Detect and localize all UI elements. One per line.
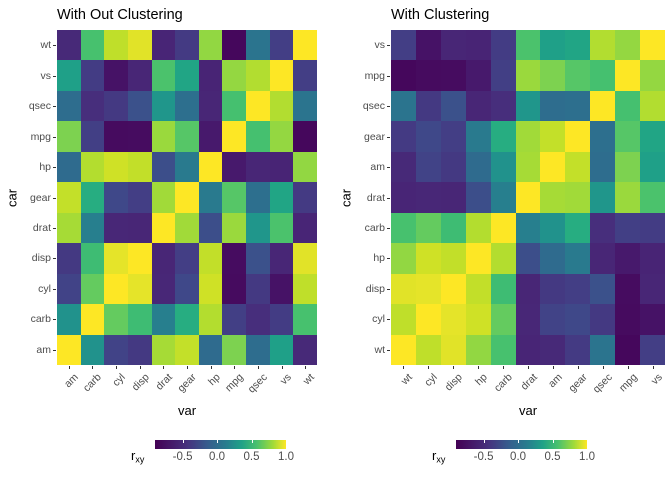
- heatmap-cell[interactable]: [222, 30, 246, 60]
- y-axis-tick-label: cyl: [372, 314, 385, 325]
- heatmap-cell[interactable]: [270, 30, 294, 60]
- heatmap-cell[interactable]: [615, 335, 640, 365]
- x-axis-tick-mark: [163, 366, 164, 369]
- heatmap-cell[interactable]: [175, 182, 199, 212]
- heatmap-cell[interactable]: [540, 121, 565, 151]
- heatmap-cell[interactable]: [270, 60, 294, 90]
- heatmap-cell[interactable]: [590, 182, 615, 212]
- legend-tick-label: 0.5: [244, 451, 260, 463]
- heatmap-cell[interactable]: [293, 213, 317, 243]
- heatmap-cell[interactable]: [540, 335, 565, 365]
- heatmap-cell[interactable]: [615, 91, 640, 121]
- y-axis-tick-label: hp: [373, 253, 385, 264]
- y-axis-tick-label: qsec: [363, 101, 385, 112]
- heatmap-cell[interactable]: [128, 121, 152, 151]
- heatmap-cell[interactable]: [246, 243, 270, 273]
- heatmap-cell[interactable]: [441, 274, 466, 304]
- heatmap-cell[interactable]: [416, 60, 441, 90]
- heatmap-row: [57, 152, 317, 182]
- y-axis-tick-label: mpg: [365, 70, 385, 81]
- heatmap-cell[interactable]: [590, 60, 615, 90]
- y-axis-tick-mark: [387, 167, 390, 168]
- heatmap-cell[interactable]: [516, 30, 541, 60]
- y-axis-tick-mark: [53, 45, 56, 46]
- heatmap-cell[interactable]: [466, 91, 491, 121]
- heatmap-row: [391, 304, 665, 334]
- heatmap-cell[interactable]: [491, 182, 516, 212]
- heatmap-cell[interactable]: [175, 30, 199, 60]
- heatmap-cell[interactable]: [270, 243, 294, 273]
- heatmap-cell[interactable]: [466, 243, 491, 273]
- heatmap-cell[interactable]: [416, 121, 441, 151]
- heatmap-cell[interactable]: [565, 60, 590, 90]
- heatmap-cell[interactable]: [565, 243, 590, 273]
- heatmap-cell[interactable]: [391, 182, 416, 212]
- heatmap-cell[interactable]: [81, 60, 105, 90]
- heatmap-cell[interactable]: [57, 182, 81, 212]
- heatmap-cell[interactable]: [441, 121, 466, 151]
- heatmap-cell[interactable]: [640, 121, 665, 151]
- heatmap-cell[interactable]: [416, 30, 441, 60]
- legend-tick-mark: [286, 440, 287, 443]
- heatmap-cell[interactable]: [270, 91, 294, 121]
- heatmap-cell[interactable]: [128, 91, 152, 121]
- heatmap-cell[interactable]: [516, 60, 541, 90]
- heatmap-cell[interactable]: [246, 304, 270, 334]
- heatmap-cell[interactable]: [246, 121, 270, 151]
- y-axis-tick-mark: [53, 167, 56, 168]
- x-axis-tick-mark: [603, 366, 604, 369]
- heatmap-cell[interactable]: [466, 335, 491, 365]
- heatmap-cell[interactable]: [293, 335, 317, 365]
- heatmap-row: [391, 213, 665, 243]
- y-axis-tick-mark: [53, 258, 56, 259]
- heatmap-cell[interactable]: [391, 91, 416, 121]
- heatmap-cell[interactable]: [491, 243, 516, 273]
- heatmap-cell[interactable]: [246, 152, 270, 182]
- heatmap-cell[interactable]: [246, 213, 270, 243]
- heatmap-cell[interactable]: [391, 60, 416, 90]
- heatmap-cell[interactable]: [57, 274, 81, 304]
- heatmap-cell[interactable]: [199, 30, 223, 60]
- heatmap-cell[interactable]: [57, 335, 81, 365]
- heatmap-cell[interactable]: [152, 304, 176, 334]
- heatmap-cell[interactable]: [222, 274, 246, 304]
- heatmap-row: [57, 60, 317, 90]
- heatmap-cell[interactable]: [441, 60, 466, 90]
- heatmap-cell[interactable]: [565, 182, 590, 212]
- heatmap-cell[interactable]: [466, 213, 491, 243]
- heatmap-cell[interactable]: [615, 213, 640, 243]
- heatmap-cell[interactable]: [152, 243, 176, 273]
- heatmap-cell[interactable]: [246, 274, 270, 304]
- heatmap-cell[interactable]: [104, 274, 128, 304]
- heatmap-cell[interactable]: [516, 304, 541, 334]
- heatmap-cell[interactable]: [416, 152, 441, 182]
- heatmap-cell[interactable]: [516, 274, 541, 304]
- y-axis-tick-mark: [53, 289, 56, 290]
- heatmap-cell[interactable]: [491, 304, 516, 334]
- heatmap-cell[interactable]: [416, 213, 441, 243]
- heatmap-cell[interactable]: [615, 152, 640, 182]
- heatmap-cell[interactable]: [175, 304, 199, 334]
- heatmap-cell[interactable]: [270, 274, 294, 304]
- heatmap-cell[interactable]: [128, 243, 152, 273]
- heatmap-cell[interactable]: [441, 91, 466, 121]
- heatmap-cell[interactable]: [391, 30, 416, 60]
- heatmap-cell[interactable]: [152, 274, 176, 304]
- y-axis-tick-mark: [387, 106, 390, 107]
- legend-tick-mark: [183, 440, 184, 443]
- heatmap-cell[interactable]: [640, 243, 665, 273]
- heatmap-cell[interactable]: [640, 213, 665, 243]
- x-axis-tick-mark: [653, 366, 654, 369]
- heatmap-cell[interactable]: [466, 152, 491, 182]
- y-axis-tick-label: disp: [32, 253, 51, 264]
- heatmap-cell[interactable]: [222, 182, 246, 212]
- heatmap-cell[interactable]: [441, 30, 466, 60]
- legend-tick-label: 0.5: [545, 451, 561, 463]
- heatmap-cell[interactable]: [466, 30, 491, 60]
- heatmap-cell[interactable]: [81, 30, 105, 60]
- heatmap-cell[interactable]: [199, 304, 223, 334]
- heatmap-cell[interactable]: [540, 60, 565, 90]
- heatmap-cell[interactable]: [175, 60, 199, 90]
- heatmap-cell[interactable]: [270, 213, 294, 243]
- heatmap-cell[interactable]: [540, 243, 565, 273]
- heatmap-cell[interactable]: [516, 213, 541, 243]
- facet-without-clustering: With Out Clustering wtvsqsecmpghpgeardra…: [0, 0, 336, 480]
- heatmap-cell[interactable]: [491, 121, 516, 151]
- heatmap-cell[interactable]: [81, 304, 105, 334]
- y-axis-title-left: car: [5, 188, 20, 206]
- heatmap-cell[interactable]: [391, 152, 416, 182]
- heatmap-cell[interactable]: [441, 182, 466, 212]
- y-axis-tick-label: carb: [31, 314, 51, 325]
- heatmap-cell[interactable]: [293, 30, 317, 60]
- heatmap-row: [57, 30, 317, 60]
- heatmap-cell[interactable]: [175, 213, 199, 243]
- heatmap-cell[interactable]: [565, 335, 590, 365]
- heatmap-cell[interactable]: [293, 274, 317, 304]
- heatmap-cell[interactable]: [199, 274, 223, 304]
- heatmap-cell[interactable]: [416, 91, 441, 121]
- heatmap-cell[interactable]: [104, 182, 128, 212]
- heatmap-cell[interactable]: [516, 121, 541, 151]
- heatmap-cell[interactable]: [293, 60, 317, 90]
- heatmap-cell[interactable]: [104, 304, 128, 334]
- heatmap-cell[interactable]: [416, 274, 441, 304]
- heatmap-cell[interactable]: [615, 121, 640, 151]
- legend-tick-label: 0.0: [510, 451, 526, 463]
- facet-with-clustering: With Clustering vsmpgqsecgearamdratcarbh…: [336, 0, 672, 480]
- heatmap-cell[interactable]: [199, 152, 223, 182]
- heatmap-cell[interactable]: [104, 213, 128, 243]
- heatmap-cell[interactable]: [590, 91, 615, 121]
- heatmap-cell[interactable]: [128, 152, 152, 182]
- heatmap-cell[interactable]: [293, 121, 317, 151]
- heatmap-cell[interactable]: [57, 121, 81, 151]
- heatmap-cell[interactable]: [640, 274, 665, 304]
- y-axis-tick-label: am: [370, 162, 385, 173]
- heatmap-cell[interactable]: [590, 335, 615, 365]
- heatmap-cell[interactable]: [104, 152, 128, 182]
- heatmap-cell[interactable]: [416, 182, 441, 212]
- heatmap-cell[interactable]: [57, 304, 81, 334]
- heatmap-cell[interactable]: [615, 60, 640, 90]
- heatmap-cell[interactable]: [175, 121, 199, 151]
- heatmap-cell[interactable]: [57, 60, 81, 90]
- heatmap-cell[interactable]: [128, 274, 152, 304]
- heatmap-cell[interactable]: [565, 91, 590, 121]
- heatmap-row: [57, 121, 317, 151]
- heatmap-cell[interactable]: [104, 335, 128, 365]
- heatmap-cell[interactable]: [246, 60, 270, 90]
- heatmap-cell[interactable]: [222, 304, 246, 334]
- heatmap-cell[interactable]: [516, 182, 541, 212]
- heatmap-cell[interactable]: [640, 182, 665, 212]
- heatmap-cell[interactable]: [81, 182, 105, 212]
- heatmap-cell[interactable]: [565, 274, 590, 304]
- heatmap-cell[interactable]: [104, 121, 128, 151]
- heatmap-cell[interactable]: [293, 304, 317, 334]
- heatmap-cell[interactable]: [81, 213, 105, 243]
- heatmap-cell[interactable]: [391, 243, 416, 273]
- heatmap-cell[interactable]: [466, 121, 491, 151]
- heatmap-cell[interactable]: [175, 335, 199, 365]
- heatmap-cell[interactable]: [152, 91, 176, 121]
- heatmap-cell[interactable]: [540, 213, 565, 243]
- x-axis-tick-mark: [403, 366, 404, 369]
- heatmap-cell[interactable]: [246, 30, 270, 60]
- x-axis-tick-mark: [282, 366, 283, 369]
- heatmap-cell[interactable]: [175, 274, 199, 304]
- heatmap-cell[interactable]: [565, 30, 590, 60]
- heatmap-cell[interactable]: [222, 60, 246, 90]
- heatmap-cell[interactable]: [640, 335, 665, 365]
- x-axis-tick-mark: [478, 366, 479, 369]
- heatmap-cell[interactable]: [270, 304, 294, 334]
- heatmap-cell[interactable]: [466, 182, 491, 212]
- heatmap-cell[interactable]: [293, 182, 317, 212]
- heatmap-cell[interactable]: [175, 243, 199, 273]
- heatmap-cell[interactable]: [441, 152, 466, 182]
- heatmap-cell[interactable]: [128, 60, 152, 90]
- x-axis-title-left: var: [178, 403, 196, 418]
- y-axis-tick-label: vs: [375, 40, 386, 51]
- heatmap-cell[interactable]: [416, 304, 441, 334]
- heatmap-cell[interactable]: [293, 91, 317, 121]
- y-axis-tick-mark: [387, 198, 390, 199]
- heatmap-row: [391, 335, 665, 365]
- heatmap-cell[interactable]: [199, 213, 223, 243]
- heatmap-cell[interactable]: [128, 30, 152, 60]
- heatmap-cell[interactable]: [540, 91, 565, 121]
- heatmap-cell[interactable]: [152, 182, 176, 212]
- heatmap-cell[interactable]: [565, 121, 590, 151]
- y-axis-tick-mark: [53, 76, 56, 77]
- heatmap-cell[interactable]: [540, 30, 565, 60]
- heatmap-cell[interactable]: [391, 274, 416, 304]
- heatmap-cell[interactable]: [199, 91, 223, 121]
- heatmap-cell[interactable]: [293, 152, 317, 182]
- heatmap-cell[interactable]: [615, 182, 640, 212]
- heatmap-cell[interactable]: [222, 152, 246, 182]
- heatmap-cell[interactable]: [128, 213, 152, 243]
- x-axis-tick-mark: [140, 366, 141, 369]
- heatmap-cell[interactable]: [590, 213, 615, 243]
- heatmap-cell[interactable]: [590, 30, 615, 60]
- heatmap-cell[interactable]: [590, 304, 615, 334]
- heatmap-cell[interactable]: [246, 182, 270, 212]
- heatmap-cell[interactable]: [491, 30, 516, 60]
- y-axis-tick-label: am: [36, 345, 51, 356]
- heatmap-cell[interactable]: [199, 121, 223, 151]
- heatmap-cell[interactable]: [270, 121, 294, 151]
- heatmap-cell[interactable]: [270, 152, 294, 182]
- heatmap-cell[interactable]: [152, 30, 176, 60]
- heatmap-cell[interactable]: [640, 91, 665, 121]
- legend-title-right: rxy: [432, 448, 445, 465]
- heatmap-cell[interactable]: [416, 335, 441, 365]
- heatmap-cell[interactable]: [270, 335, 294, 365]
- heatmap-cell[interactable]: [152, 152, 176, 182]
- x-axis-tick-mark: [305, 366, 306, 369]
- y-axis-tick-mark: [53, 350, 56, 351]
- heatmap-cell[interactable]: [104, 91, 128, 121]
- heatmap-cell[interactable]: [491, 152, 516, 182]
- y-axis-tick-mark: [53, 198, 56, 199]
- heatmap-cell[interactable]: [293, 243, 317, 273]
- heatmap-cell[interactable]: [540, 182, 565, 212]
- heatmap-cell[interactable]: [152, 335, 176, 365]
- heatmap-cell[interactable]: [57, 30, 81, 60]
- heatmap-cell[interactable]: [516, 243, 541, 273]
- heatmap-cell[interactable]: [128, 335, 152, 365]
- x-axis-tick-mark: [258, 366, 259, 369]
- heatmap-cell[interactable]: [175, 91, 199, 121]
- heatmap-cell[interactable]: [104, 60, 128, 90]
- heatmap-cell[interactable]: [441, 304, 466, 334]
- heatmap-cell[interactable]: [416, 243, 441, 273]
- heatmap-cell[interactable]: [516, 152, 541, 182]
- heatmap-cell[interactable]: [270, 182, 294, 212]
- heatmap-cell[interactable]: [391, 304, 416, 334]
- heatmap-cell[interactable]: [640, 152, 665, 182]
- heatmap-cell[interactable]: [491, 60, 516, 90]
- heatmap-cell[interactable]: [57, 243, 81, 273]
- heatmap-cell[interactable]: [516, 335, 541, 365]
- heatmap-cell[interactable]: [175, 152, 199, 182]
- heatmap-cell[interactable]: [128, 182, 152, 212]
- heatmap-cell[interactable]: [81, 274, 105, 304]
- heatmap-cell[interactable]: [491, 213, 516, 243]
- heatmap-cell[interactable]: [516, 91, 541, 121]
- heatmap-cell[interactable]: [441, 335, 466, 365]
- heatmap-cell[interactable]: [222, 335, 246, 365]
- heatmap-cell[interactable]: [615, 304, 640, 334]
- heatmap-cell[interactable]: [104, 243, 128, 273]
- heatmap-cell[interactable]: [640, 30, 665, 60]
- legend-colorbar-right: [456, 440, 587, 449]
- heatmap-cell[interactable]: [199, 182, 223, 212]
- heatmap-cell[interactable]: [615, 30, 640, 60]
- heatmap-cell[interactable]: [199, 243, 223, 273]
- heatmap-cell[interactable]: [391, 213, 416, 243]
- heatmap-cell[interactable]: [222, 243, 246, 273]
- heatmap-cell[interactable]: [565, 213, 590, 243]
- y-axis-tick-label: wt: [41, 40, 52, 51]
- heatmap-row: [391, 30, 665, 60]
- heatmap-cell[interactable]: [391, 335, 416, 365]
- heatmap-cell[interactable]: [81, 335, 105, 365]
- heatmap-cell[interactable]: [441, 243, 466, 273]
- heatmap-cell[interactable]: [152, 121, 176, 151]
- heatmap-cell[interactable]: [640, 60, 665, 90]
- heatmap-cell[interactable]: [81, 152, 105, 182]
- heatmap-cell[interactable]: [222, 121, 246, 151]
- y-axis-tick-mark: [387, 137, 390, 138]
- heatmap-cell[interactable]: [540, 152, 565, 182]
- heatmap-cell[interactable]: [615, 243, 640, 273]
- heatmap-cell[interactable]: [590, 274, 615, 304]
- heatmap-cell[interactable]: [565, 152, 590, 182]
- y-axis-tick-label: wt: [375, 345, 386, 356]
- heatmap-cell[interactable]: [222, 213, 246, 243]
- heatmap-cell[interactable]: [391, 121, 416, 151]
- heatmap-cell[interactable]: [57, 152, 81, 182]
- heatmap-cell[interactable]: [540, 304, 565, 334]
- heatmap-cell[interactable]: [152, 213, 176, 243]
- heatmap-cell[interactable]: [57, 213, 81, 243]
- heatmap-cell[interactable]: [590, 243, 615, 273]
- heatmap-cell[interactable]: [81, 243, 105, 273]
- heatmap-cell[interactable]: [565, 304, 590, 334]
- heatmap-cell[interactable]: [491, 91, 516, 121]
- heatmap-cell[interactable]: [81, 91, 105, 121]
- heatmap-cell[interactable]: [222, 91, 246, 121]
- heatmap-cell[interactable]: [199, 335, 223, 365]
- heatmap-cell[interactable]: [466, 60, 491, 90]
- heatmap-cell[interactable]: [104, 30, 128, 60]
- heatmap-row: [57, 182, 317, 212]
- x-axis-tick-mark: [116, 366, 117, 369]
- heatmap-cell[interactable]: [441, 213, 466, 243]
- heatmap-cell[interactable]: [590, 152, 615, 182]
- heatmap-cell[interactable]: [152, 60, 176, 90]
- legend-colorbar-left: [155, 440, 286, 449]
- x-axis-tick-mark: [578, 366, 579, 369]
- y-axis-tick-mark: [387, 228, 390, 229]
- heatmap-cell[interactable]: [57, 91, 81, 121]
- heatmap-cell[interactable]: [199, 60, 223, 90]
- heatmap-row: [391, 243, 665, 273]
- heatmap-cell[interactable]: [590, 121, 615, 151]
- heatmap-cell[interactable]: [466, 274, 491, 304]
- heatmap-cell[interactable]: [466, 304, 491, 334]
- heatmap-cell[interactable]: [246, 335, 270, 365]
- heatmap-cell[interactable]: [640, 304, 665, 334]
- heatmap-row: [391, 152, 665, 182]
- heatmap-cell[interactable]: [491, 274, 516, 304]
- heatmap-cell[interactable]: [246, 91, 270, 121]
- heatmap-cell[interactable]: [615, 274, 640, 304]
- heatmap-cell[interactable]: [540, 274, 565, 304]
- heatmap-cell[interactable]: [128, 304, 152, 334]
- heatmap-cell[interactable]: [81, 121, 105, 151]
- heatmap-cell[interactable]: [491, 335, 516, 365]
- x-axis-tick-mark: [553, 366, 554, 369]
